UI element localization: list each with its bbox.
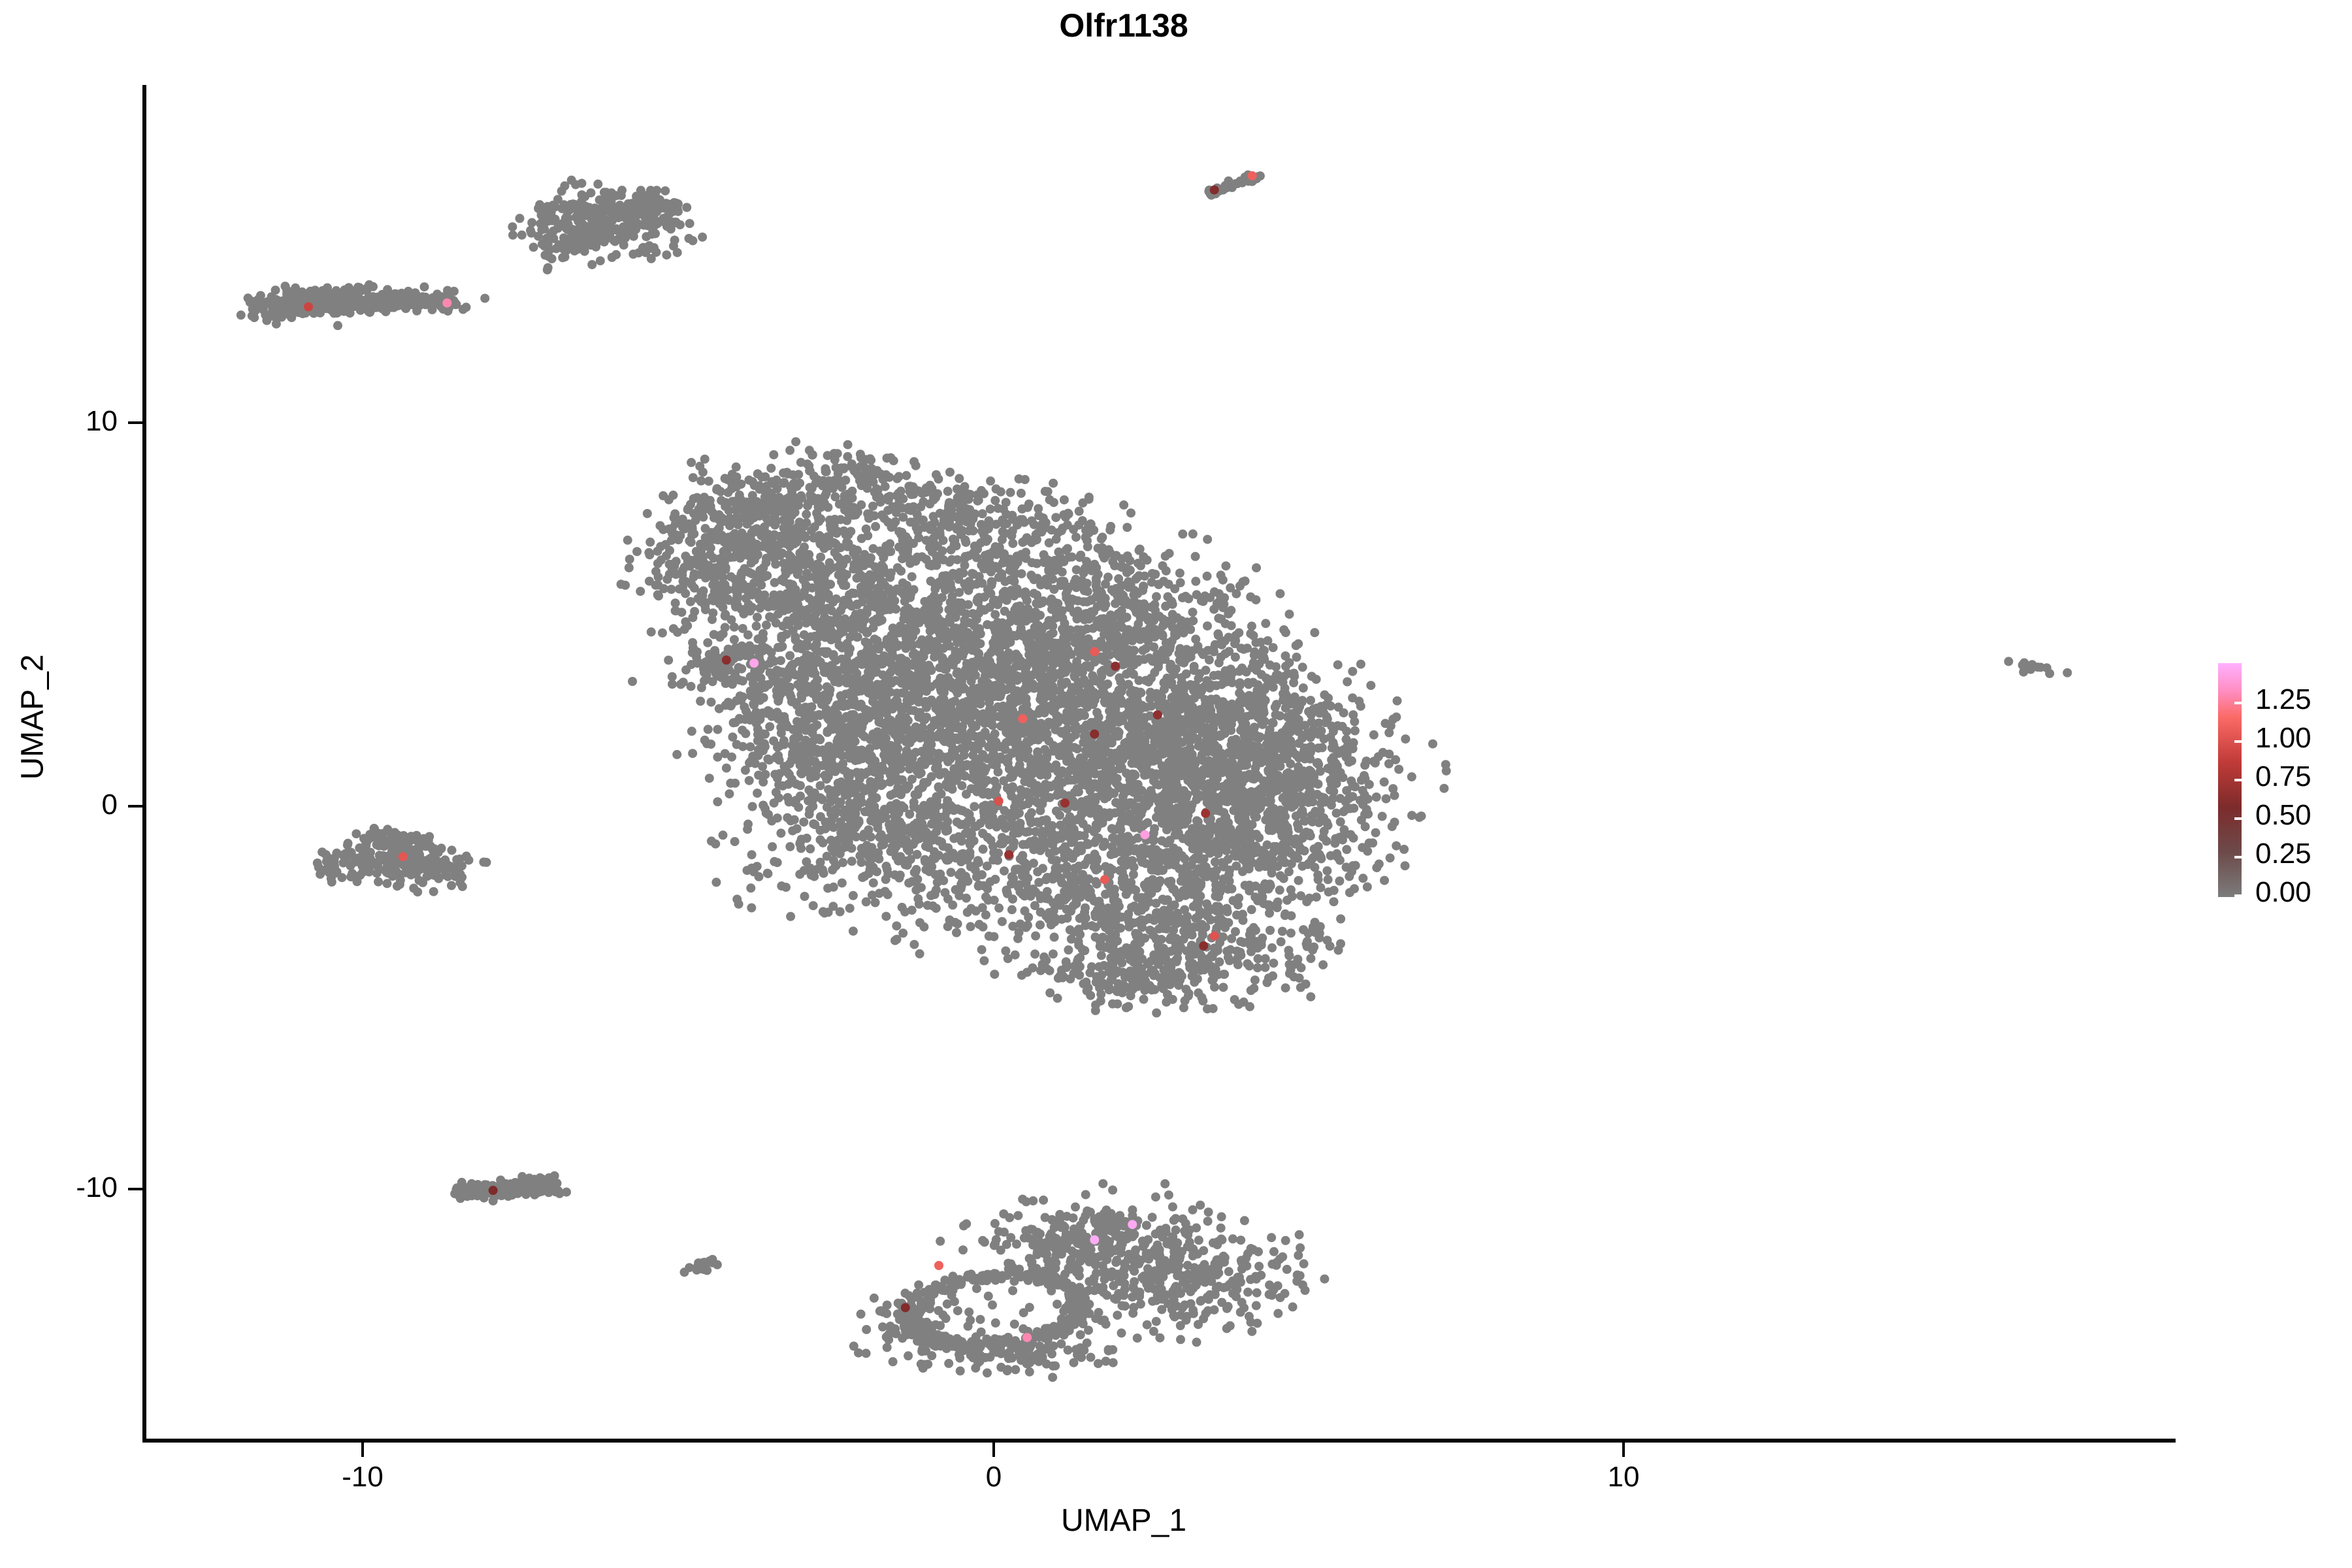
scatter-point	[1307, 672, 1316, 681]
scatter-point	[1384, 749, 1394, 759]
scatter-point	[1235, 176, 1245, 186]
scatter-point	[841, 618, 850, 627]
scatter-point	[842, 555, 851, 564]
scatter-point	[1085, 749, 1094, 758]
scatter-point	[706, 496, 715, 505]
scatter-point	[831, 540, 840, 549]
scatter-point	[642, 210, 651, 219]
scatter-point	[1333, 661, 1343, 670]
scatter-point	[1017, 687, 1026, 696]
scatter-point	[1350, 727, 1360, 736]
scatter-point	[685, 234, 694, 243]
scatter-point	[1380, 876, 1389, 885]
scatter-point	[730, 635, 739, 644]
scatter-point	[646, 244, 655, 253]
scatter-point	[1371, 828, 1380, 838]
scatter-point	[1028, 679, 1037, 689]
scatter-point	[632, 547, 642, 556]
scatter-point	[237, 310, 246, 319]
scatter-point	[545, 246, 554, 255]
scatter-point	[990, 610, 1000, 619]
scatter-point	[551, 215, 560, 224]
scatter-point	[1124, 798, 1134, 808]
scatter-point	[1392, 841, 1401, 851]
scatter-point	[1103, 773, 1112, 782]
scatter-point	[1105, 738, 1115, 747]
scatter-point	[587, 260, 596, 269]
scatter-point	[1065, 691, 1074, 700]
scatter-point	[1103, 719, 1113, 728]
scatter-point	[687, 458, 696, 467]
scatter-point	[853, 600, 862, 610]
scatter-point	[662, 575, 672, 584]
scatter-point	[826, 580, 835, 589]
scatter-point	[849, 564, 858, 574]
scatter-point	[1218, 186, 1228, 195]
scatter-point	[782, 630, 791, 639]
scatter-point	[844, 539, 853, 548]
scatter-point	[596, 256, 605, 265]
scatter-point	[1107, 850, 1116, 859]
scatter-point	[604, 204, 613, 214]
scatter-point	[353, 284, 362, 293]
scatter-point	[770, 478, 779, 487]
scatter-point	[272, 319, 281, 329]
scatter-point	[1208, 784, 1217, 793]
scatter-point	[735, 491, 744, 500]
scatter-point	[1100, 787, 1109, 796]
scatter-point	[635, 196, 644, 205]
scatter-point	[295, 303, 304, 312]
scatter-point	[1401, 734, 1410, 743]
scatter-point	[1004, 710, 1013, 719]
scatter-point	[819, 572, 828, 581]
scatter-point	[563, 225, 572, 234]
scatter-point	[593, 238, 602, 248]
scatter-point	[796, 532, 806, 541]
scatter-point	[885, 605, 894, 614]
scatter-point	[907, 588, 916, 597]
scatter-point	[693, 493, 702, 502]
scatter-point	[735, 504, 744, 514]
scatter-point	[785, 599, 794, 608]
scatter-point	[727, 479, 736, 488]
scatter-point	[687, 727, 696, 736]
scatter-point	[1350, 717, 1359, 727]
scatter-point	[679, 678, 688, 687]
scatter-point	[1384, 759, 1394, 768]
scatter-point	[647, 201, 657, 210]
scatter-point	[787, 511, 796, 520]
scatter-point	[653, 547, 662, 556]
scatter-point	[617, 580, 626, 589]
scatter-point	[760, 493, 770, 502]
scatter-point	[1378, 812, 1387, 821]
scatter-point	[1004, 754, 1013, 763]
scatter-point	[874, 566, 883, 576]
scatter-point	[1332, 809, 1341, 818]
scatter-point	[1152, 592, 1161, 601]
scatter-point	[930, 653, 939, 662]
scatter-point	[836, 606, 845, 615]
scatter-point	[678, 583, 687, 592]
scatter-point	[862, 579, 871, 588]
scatter-point	[791, 587, 800, 596]
scatter-point	[665, 546, 674, 555]
scatter-point	[874, 603, 883, 612]
scatter-point	[841, 531, 851, 540]
scatter-point	[316, 291, 325, 300]
scatter-point	[816, 553, 825, 562]
scatter-point	[800, 549, 809, 558]
scatter-point	[740, 514, 749, 523]
scatter-point	[1134, 676, 1143, 685]
scatter-point	[766, 464, 776, 473]
scatter-point	[974, 759, 983, 768]
scatter-point	[878, 591, 887, 600]
scatter-point	[819, 617, 828, 626]
scatter-point	[602, 233, 611, 242]
scatter-point	[695, 462, 704, 471]
scatter-point	[695, 570, 704, 579]
scatter-point	[802, 510, 811, 519]
scatter-point	[963, 697, 972, 706]
scatter-point	[681, 523, 691, 532]
scatter-point	[696, 476, 706, 485]
scatter-point	[713, 725, 722, 734]
scatter-point	[645, 550, 654, 559]
scatter-point	[1288, 892, 1297, 901]
scatter-point	[783, 469, 792, 478]
scatter-point	[612, 191, 621, 200]
scatter-point	[636, 587, 645, 596]
scatter-point	[800, 587, 809, 596]
scatter-point	[844, 598, 853, 607]
scatter-point	[803, 501, 812, 510]
scatter-point	[395, 291, 404, 300]
scatter-point	[770, 531, 779, 540]
scatter-point	[647, 627, 656, 636]
scatter-point	[689, 473, 698, 482]
scatter-point	[808, 602, 817, 611]
scatter-point	[1330, 897, 1339, 906]
scatter-point	[789, 613, 798, 622]
scatter-point	[960, 745, 970, 754]
scatter-point	[996, 675, 1005, 684]
scatter-point	[986, 708, 995, 717]
scatter-point	[799, 576, 808, 585]
scatter-point	[1345, 888, 1354, 897]
scatter-point	[835, 629, 844, 638]
scatter-point	[1265, 826, 1274, 835]
scatter-point	[1058, 727, 1068, 736]
scatter-point	[672, 533, 681, 542]
scatter-point	[885, 584, 894, 593]
scatter-point	[333, 321, 342, 330]
scatter-point	[768, 545, 777, 554]
scatter-point	[571, 180, 580, 189]
scatter-point	[970, 802, 979, 811]
scatter-point	[709, 509, 718, 518]
scatter-point	[651, 581, 661, 590]
scatter-point	[1393, 696, 1402, 706]
scatter-point	[701, 524, 710, 533]
scatter-point	[707, 698, 716, 707]
scatter-point	[934, 730, 943, 739]
scatter-point	[967, 677, 976, 686]
scatter-point	[537, 225, 546, 235]
scatter-point	[1382, 794, 1391, 804]
scatter-point	[861, 638, 870, 647]
scatter-point	[1119, 784, 1128, 793]
scatter-point	[1021, 696, 1030, 706]
scatter-point	[662, 250, 671, 259]
scatter-point	[1363, 847, 1372, 856]
scatter-point	[776, 656, 785, 665]
scatter-point	[938, 753, 947, 762]
scatter-point	[537, 210, 546, 220]
scatter-point	[1102, 764, 1111, 774]
scatter-point	[810, 564, 819, 573]
scatter-point	[871, 522, 880, 531]
scatter-point	[709, 553, 718, 563]
scatter-point	[898, 554, 907, 563]
scatter-point	[1407, 772, 1416, 781]
scatter-point	[938, 653, 947, 662]
scatter-point	[736, 546, 745, 555]
scatter-point	[812, 509, 821, 518]
scatter-point	[1079, 819, 1088, 828]
scatter-point	[1043, 729, 1052, 738]
scatter-point	[1041, 768, 1050, 777]
scatter-point	[1031, 796, 1040, 806]
scatter-point	[967, 641, 976, 650]
scatter-point	[1122, 738, 1132, 747]
scatter-point	[508, 222, 517, 231]
scatter-point	[434, 293, 444, 302]
scatter-point	[1439, 784, 1448, 793]
scatter-point	[1005, 722, 1014, 731]
scatter-point	[317, 299, 326, 308]
scatter-point	[1005, 773, 1015, 782]
scatter-point	[976, 629, 985, 638]
scatter-point	[673, 628, 682, 637]
scatter-point	[420, 282, 429, 291]
scatter-point	[630, 219, 640, 228]
scatter-point	[976, 732, 985, 741]
scatter-point	[848, 589, 857, 598]
scatter-point	[670, 513, 679, 522]
scatter-point	[1071, 724, 1081, 733]
scatter-point	[591, 230, 600, 239]
scatter-point	[269, 309, 278, 318]
scatter-point	[672, 750, 681, 759]
scatter-point	[1034, 758, 1043, 767]
scatter-point	[1097, 668, 1106, 677]
scatter-point	[671, 598, 680, 608]
scatter-point	[815, 583, 825, 592]
scatter-point	[1417, 811, 1426, 821]
scatter-point	[1372, 863, 1381, 872]
scatter-point	[1300, 846, 1309, 855]
scatter-point	[1049, 718, 1058, 727]
scatter-point	[897, 587, 906, 596]
scatter-point	[323, 284, 332, 293]
scatter-point	[1025, 766, 1034, 775]
scatter-point	[662, 216, 671, 225]
scatter-point	[1083, 740, 1092, 749]
scatter-point	[907, 572, 917, 581]
scatter-point	[1369, 730, 1379, 740]
scatter-point	[1342, 786, 1351, 795]
scatter-point	[938, 572, 947, 581]
scatter-point	[776, 643, 785, 652]
scatter-point	[1332, 849, 1341, 858]
scatter-point	[1013, 765, 1022, 774]
scatter-point	[1064, 737, 1073, 746]
scatter-point	[760, 533, 769, 542]
scatter-point	[1162, 839, 1171, 848]
scatter-point	[857, 534, 866, 543]
scatter-point	[668, 672, 677, 681]
scatter-point	[1357, 815, 1366, 825]
scatter-point	[1324, 875, 1333, 884]
scatter-point	[974, 710, 983, 719]
scatter-point	[404, 287, 413, 296]
scatter-point	[751, 543, 760, 552]
scatter-point	[826, 524, 836, 533]
scatter-point	[1316, 883, 1325, 892]
scatter-point	[796, 491, 806, 500]
scatter-point	[849, 627, 858, 636]
scatter-point	[950, 750, 959, 759]
scatter-point	[600, 195, 610, 204]
scatter-point	[720, 557, 729, 566]
scatter-point	[1390, 791, 1399, 800]
scatter-point	[810, 572, 819, 581]
scatter-point	[802, 616, 811, 625]
scatter-point	[672, 218, 681, 227]
scatter-point	[755, 485, 764, 494]
scatter-point	[286, 312, 295, 321]
scatter-point	[279, 296, 288, 305]
scatter-point	[941, 664, 951, 674]
scatter-point	[1372, 792, 1381, 802]
scatter-point	[593, 180, 602, 189]
scatter-point	[1327, 800, 1336, 809]
scatter-point	[1054, 695, 1064, 704]
scatter-point	[1049, 741, 1058, 750]
scatter-point	[570, 237, 579, 246]
scatter-point	[1032, 785, 1041, 794]
scatter-point	[988, 621, 998, 630]
scatter-point	[613, 235, 623, 244]
scatter-point	[1164, 706, 1173, 715]
scatter-point	[655, 521, 664, 531]
scatter-point	[872, 614, 881, 623]
scatter-point	[1073, 698, 1082, 708]
scatter-point	[529, 242, 538, 252]
scatter-point	[762, 621, 771, 630]
scatter-point	[378, 295, 387, 304]
scatter-point	[1327, 721, 1336, 730]
scatter-point	[743, 630, 753, 640]
scatter-point	[1394, 765, 1403, 774]
scatter-point	[794, 566, 803, 575]
scatter-point	[661, 186, 670, 195]
scatter-point	[623, 536, 632, 545]
scatter-point	[563, 212, 572, 221]
scatter-point	[631, 206, 640, 216]
scatter-point	[653, 590, 662, 599]
scatter-point	[888, 665, 897, 674]
scatter-point	[527, 218, 536, 227]
scatter-point	[898, 578, 907, 587]
scatter-point	[560, 182, 569, 191]
scatter-point	[1128, 759, 1137, 768]
scatter-point	[769, 450, 778, 459]
scatter-point	[678, 566, 687, 575]
scatter-point	[1342, 845, 1351, 854]
scatter-point	[480, 294, 489, 303]
scatter-point	[1079, 777, 1088, 786]
scatter-point	[1374, 752, 1383, 761]
scatter-point	[826, 627, 836, 636]
scatter-point	[1386, 853, 1395, 862]
scatter-point	[703, 638, 712, 647]
scatter-point	[669, 242, 678, 251]
scatter-point	[1063, 751, 1072, 760]
scatter-points-layer	[0, 0, 2352, 1568]
scatter-point	[1348, 667, 1357, 676]
scatter-point	[687, 531, 696, 540]
scatter-point	[1131, 711, 1140, 721]
scatter-point	[744, 476, 753, 485]
scatter-point	[682, 203, 691, 212]
scatter-point	[685, 219, 694, 228]
scatter-point	[362, 284, 371, 293]
scatter-point	[288, 295, 297, 304]
scatter-point	[752, 621, 761, 630]
scatter-point	[793, 523, 802, 532]
scatter-point	[380, 302, 389, 312]
scatter-point	[667, 560, 676, 569]
scatter-point	[259, 305, 268, 314]
scatter-point	[1171, 825, 1180, 834]
scatter-point	[1144, 678, 1153, 687]
scatter-point	[1380, 777, 1389, 787]
scatter-point	[706, 544, 715, 553]
scatter-point	[992, 761, 1001, 770]
scatter-point	[819, 604, 828, 613]
scatter-point	[958, 722, 967, 731]
scatter-point	[651, 229, 660, 238]
scatter-point	[526, 226, 535, 235]
scatter-point	[973, 692, 982, 701]
scatter-point	[629, 250, 638, 259]
scatter-point	[717, 531, 727, 540]
scatter-point	[1211, 857, 1220, 866]
scatter-point	[353, 299, 363, 308]
scatter-point	[681, 617, 690, 627]
scatter-point	[696, 696, 705, 706]
scatter-point	[836, 566, 845, 575]
scatter-point	[653, 559, 662, 568]
scatter-point	[344, 283, 353, 292]
scatter-point	[770, 553, 779, 563]
scatter-point	[1362, 805, 1371, 814]
scatter-point	[727, 700, 736, 709]
